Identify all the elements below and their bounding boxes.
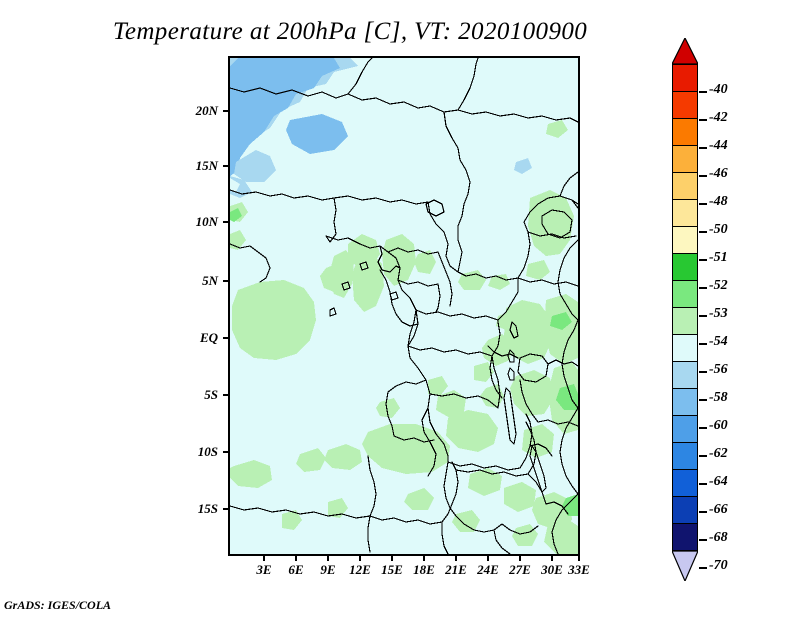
colorbar-tick-mark [699,91,707,93]
colorbar-tick-mark [699,343,707,345]
colorbar-label--42: -42 [709,110,728,126]
colorbar-label--68: -68 [709,530,728,546]
y-axis-label-eq: EQ [172,330,218,346]
y-tick-mark [223,165,228,167]
colorbar-label--66: -66 [709,502,728,518]
colorbar-tick-mark [699,175,707,177]
map-raster [230,58,578,554]
colorbar-label--46: -46 [709,166,728,182]
attribution-footer: GrADS: IGES/COLA [4,598,111,613]
x-tick-mark [519,556,521,561]
colorbar-band--46 [672,145,698,173]
y-tick-mark [223,221,228,223]
colorbar-tick-mark [699,567,707,569]
colorbar-under-arrow-icon [672,551,698,581]
colorbar [672,64,698,550]
colorbar-band--58 [672,361,698,389]
x-tick-mark [295,556,297,561]
x-tick-mark [263,556,265,561]
colorbar-tick-mark [699,147,707,149]
colorbar-label--50: -50 [709,222,728,238]
y-axis-label-10n: 10N [172,214,218,230]
colorbar-band--54 [672,307,698,335]
colorbar-label--48: -48 [709,194,728,210]
grads-plot-canvas: Temperature at 200hPa [C], VT: 202010090… [0,0,800,618]
y-axis-label-15n: 15N [172,158,218,174]
colorbar-tick-mark [699,231,707,233]
colorbar-band--53 [672,280,698,308]
colorbar-label--70: -70 [709,558,728,574]
x-tick-mark [551,556,553,561]
x-tick-mark [487,556,489,561]
colorbar-tick-mark [699,259,707,261]
colorbar-label--53: -53 [709,306,728,322]
colorbar-label--52: -52 [709,278,728,294]
colorbar-band--60 [672,388,698,416]
colorbar-band--56 [672,334,698,362]
colorbar-tick-mark [699,399,707,401]
colorbar-band--40 [672,64,698,92]
colorbar-tick-mark [699,455,707,457]
x-tick-mark [327,556,329,561]
x-tick-mark [578,556,580,561]
colorbar-label--62: -62 [709,446,728,462]
colorbar-band--51 [672,226,698,254]
colorbar-band--50 [672,199,698,227]
colorbar-band--62 [672,415,698,443]
colorbar-over-arrow-icon [672,38,698,64]
colorbar-band--66 [672,469,698,497]
colorbar-label--58: -58 [709,390,728,406]
y-axis-label-15s: 15S [172,501,218,517]
colorbar-tick-mark [699,119,707,121]
y-tick-mark [223,110,228,112]
y-tick-mark [223,280,228,282]
map-plot-area [228,56,580,556]
colorbar-tick-mark [699,511,707,513]
colorbar-label--60: -60 [709,418,728,434]
y-axis-label-5s: 5S [172,387,218,403]
x-tick-mark [423,556,425,561]
x-axis-label-33e: 33E [559,562,599,578]
colorbar-label--51: -51 [709,250,728,266]
colorbar-band--64 [672,442,698,470]
colorbar-label--54: -54 [709,334,728,350]
y-axis-label-20n: 20N [172,103,218,119]
colorbar-band--42 [672,91,698,119]
colorbar-label--44: -44 [709,138,728,154]
y-tick-mark [223,337,228,339]
x-tick-mark [359,556,361,561]
colorbar-label--56: -56 [709,362,728,378]
colorbar-tick-mark [699,427,707,429]
colorbar-tick-mark [699,315,707,317]
y-axis-label-5n: 5N [172,273,218,289]
colorbar-band--70 [672,523,698,551]
colorbar-tick-mark [699,483,707,485]
y-axis-label-10s: 10S [172,444,218,460]
colorbar-tick-mark [699,539,707,541]
x-tick-mark [455,556,457,561]
colorbar-band--52 [672,253,698,281]
colorbar-band--48 [672,172,698,200]
colorbar-label--64: -64 [709,474,728,490]
colorbar-band--44 [672,118,698,146]
y-tick-mark [223,508,228,510]
y-tick-mark [223,394,228,396]
colorbar-label--40: -40 [709,82,728,98]
colorbar-tick-mark [699,203,707,205]
colorbar-tick-mark [699,371,707,373]
x-tick-mark [391,556,393,561]
colorbar-tick-mark [699,287,707,289]
colorbar-band--68 [672,496,698,524]
page-title: Temperature at 200hPa [C], VT: 202010090… [0,18,700,46]
y-tick-mark [223,451,228,453]
